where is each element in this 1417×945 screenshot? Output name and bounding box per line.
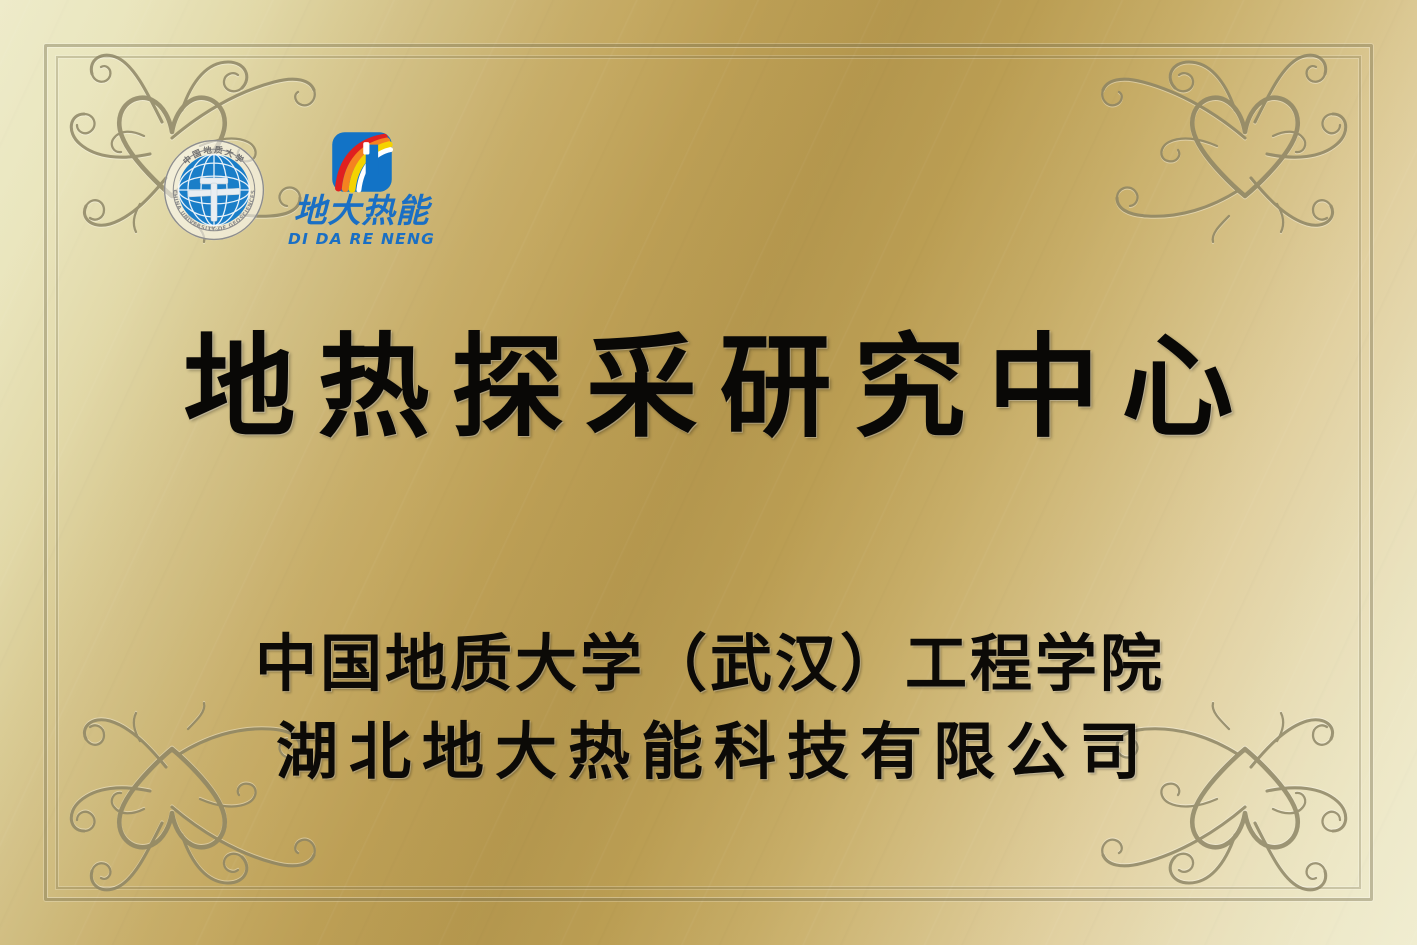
didareneng-mark-icon	[331, 131, 393, 193]
svg-text:1952: 1952	[208, 225, 220, 231]
plaque-subtitle: 中国地质大学（武汉）工程学院 湖北地大热能科技有限公司	[0, 620, 1417, 796]
award-plaque: 中国地质大学 CHINA UNIVERSITY OF GEOSCIENCES 1…	[0, 0, 1417, 945]
company-logo: 地大热能 DI DA RE NENG	[288, 131, 435, 248]
company-name-en: DI DA RE NENG	[288, 230, 435, 248]
plaque-title: 地热探采研究中心	[0, 326, 1417, 451]
subtitle-line-company: 湖北地大热能科技有限公司	[0, 708, 1417, 796]
logo-row: 中国地质大学 CHINA UNIVERSITY OF GEOSCIENCES 1…	[162, 131, 435, 248]
company-name-cn: 地大热能	[294, 194, 430, 227]
subtitle-line-university: 中国地质大学（武汉）工程学院	[0, 620, 1417, 708]
cug-globe-icon: 中国地质大学 CHINA UNIVERSITY OF GEOSCIENCES 1…	[162, 138, 266, 242]
corner-ornament-top-right	[1095, 18, 1395, 248]
